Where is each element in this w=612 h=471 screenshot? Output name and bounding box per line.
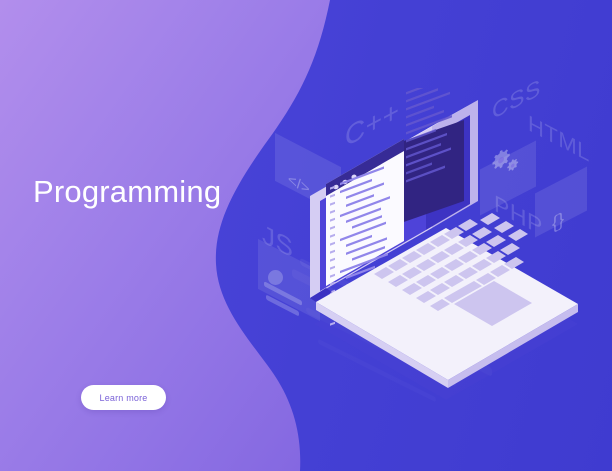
illustration-banner: C++ JS CSS HTML PHP </> {} xyxy=(0,0,612,471)
isometric-laptop xyxy=(278,88,598,428)
learn-more-button[interactable]: Learn more xyxy=(81,385,166,410)
page-title: Programming xyxy=(33,176,221,207)
